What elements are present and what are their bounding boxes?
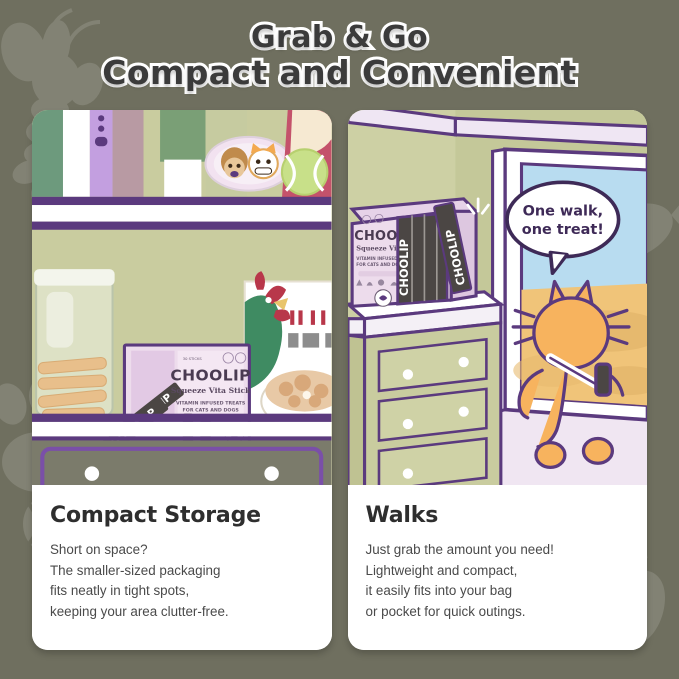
svg-text:30 STICKS: 30 STICKS [183, 357, 203, 361]
feature-cards: CHOOLIP CHOOLIP CHOOLIP [0, 110, 679, 650]
body-line: Lightweight and compact, [366, 561, 630, 582]
page-title: Grab & Go Compact and Convenient [0, 22, 679, 91]
title-line-1: Grab & Go [0, 22, 679, 54]
svg-text:Squeeze Vita Stick: Squeeze Vita Stick [171, 386, 251, 395]
body-line: Short on space? [50, 540, 314, 561]
promo-banner: Grab & Go Compact and Convenient [0, 0, 679, 679]
svg-text:CHOOLIP: CHOOLIP [170, 367, 251, 385]
svg-text:CHOOLIP: CHOOLIP [396, 239, 410, 296]
card-text-compact-storage: Compact Storage Short on space? The smal… [32, 485, 332, 650]
body-line: fits neatly in tight spots, [50, 581, 314, 602]
card-body: Short on space? The smaller-sized packag… [50, 540, 314, 622]
body-line: it easily fits into your bag [366, 581, 630, 602]
body-line: or pocket for quick outings. [366, 602, 630, 623]
card-title: Walks [366, 503, 630, 528]
title-line-2: Compact and Convenient [0, 56, 679, 91]
card-body: Just grab the amount you need! Lightweig… [366, 540, 630, 622]
card-title: Compact Storage [50, 503, 314, 528]
body-line: Just grab the amount you need! [366, 540, 630, 561]
svg-text:One walk,: One walk, [522, 203, 603, 219]
svg-text:one treat!: one treat! [521, 222, 603, 238]
svg-text:FOR CATS AND DOGS: FOR CATS AND DOGS [183, 408, 240, 414]
card-walks[interactable]: CHOOLIP Squeeze Vita Stick VITAMIN INFUS… [348, 110, 648, 650]
svg-text:VITAMIN INFUSED TREATS: VITAMIN INFUSED TREATS [176, 400, 246, 406]
card-art-kitchen-shelf: CHOOLIP CHOOLIP CHOOLIP [32, 110, 332, 485]
body-line: keeping your area clutter-free. [50, 602, 314, 623]
card-art-hallway-door: CHOOLIP Squeeze Vita Stick VITAMIN INFUS… [348, 110, 648, 485]
body-line: The smaller-sized packaging [50, 561, 314, 582]
card-compact-storage[interactable]: CHOOLIP CHOOLIP CHOOLIP [32, 110, 332, 650]
card-text-walks: Walks Just grab the amount you need! Lig… [348, 485, 648, 650]
